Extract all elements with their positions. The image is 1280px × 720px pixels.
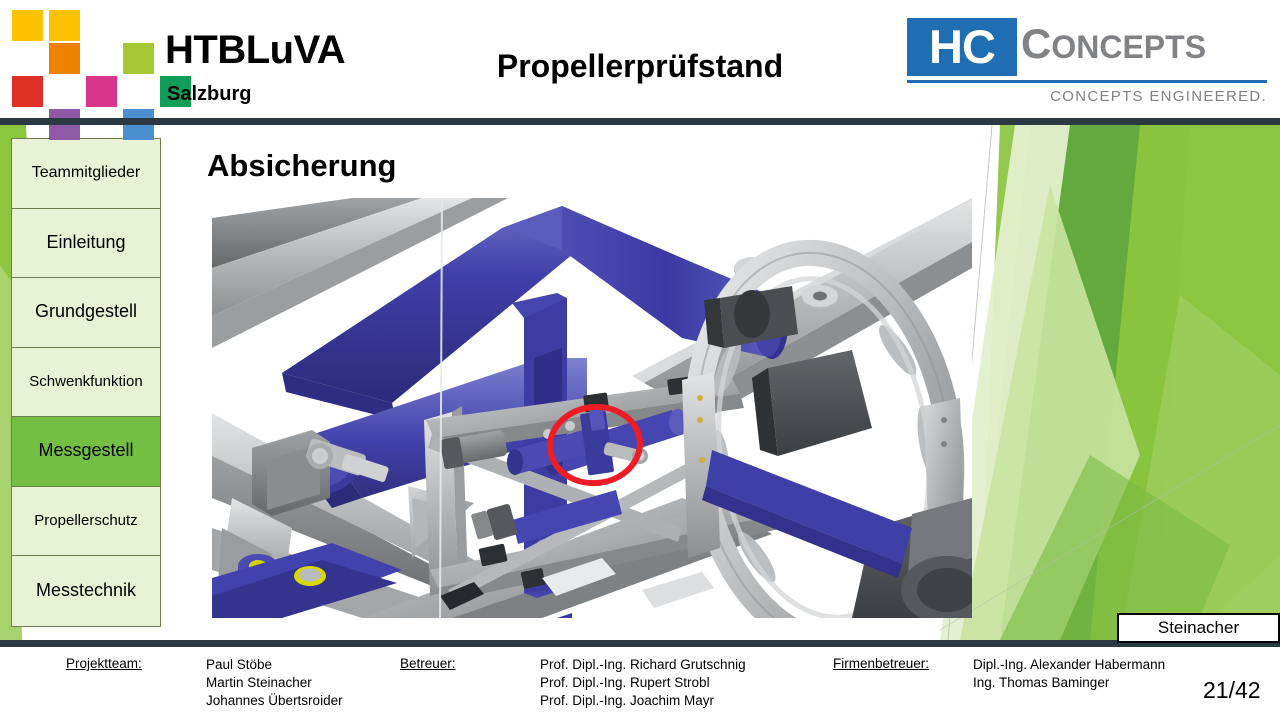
hc-logo-tagline: CONCEPTS ENGINEERED. <box>907 88 1267 105</box>
list-item: Prof. Dipl.-Ing. Rupert Strobl <box>540 674 746 692</box>
hc-wordmark-cap: C <box>1021 20 1051 67</box>
sidebar-item-propellerschutz[interactable]: Propellerschutz <box>12 487 160 557</box>
list-item: Paul Stöbe <box>206 656 343 674</box>
page-number: 21/42 <box>1203 677 1261 704</box>
sidebar-item-schwenkfunktion[interactable]: Schwenkfunktion <box>12 348 160 418</box>
hc-logo-mark: HC <box>907 18 1017 76</box>
sidebar-item-messtechnik[interactable]: Messtechnik <box>12 556 160 626</box>
speaker-name: Steinacher <box>1158 618 1239 638</box>
list-item: Ing. Thomas Baminger <box>973 674 1165 692</box>
slide-header: HTBLuVA Salzburg Propellerprüfstand HC C… <box>0 0 1280 118</box>
list-item: Prof. Dipl.-Ing. Richard Grutschnig <box>540 656 746 674</box>
sidebar-item-teammitglieder[interactable]: Teammitglieder <box>12 139 160 209</box>
sidebar-item-label: Propellerschutz <box>34 513 137 530</box>
slide-footer: Projektteam: Paul Stöbe Martin Steinache… <box>0 647 1280 720</box>
presentation-slide: HTBLuVA Salzburg Propellerprüfstand HC C… <box>0 0 1280 720</box>
sidebar-item-label: Teammitglieder <box>32 164 140 182</box>
sidebar-item-label: Grundgestell <box>35 302 137 322</box>
sidebar-item-einleitung[interactable]: Einleitung <box>12 209 160 279</box>
right-green-decor <box>940 125 1280 640</box>
cad-render-messgestell <box>212 198 972 618</box>
sidebar-item-messgestell[interactable]: Messgestell <box>12 417 160 487</box>
sidebar-item-label: Messtechnik <box>36 581 136 601</box>
firmenbetreuer-label: Firmenbetreuer: <box>833 656 929 671</box>
footer-divider <box>0 640 1280 647</box>
projektteam-list: Paul Stöbe Martin Steinacher Johannes Üb… <box>206 656 343 710</box>
hc-logo-wordmark: CONCEPTS <box>1021 23 1206 65</box>
list-item: Dipl.-Ing. Alexander Habermann <box>973 656 1165 674</box>
school-city: Salzburg <box>167 84 251 104</box>
firmenbetreuer-list: Dipl.-Ing. Alexander Habermann Ing. Thom… <box>973 656 1165 692</box>
hc-wordmark-rest: ONCEPTS <box>1051 29 1206 65</box>
speaker-name-box: Steinacher <box>1117 613 1280 643</box>
sidebar-nav: Teammitglieder Einleitung Grundgestell S… <box>11 138 161 627</box>
sidebar-item-label: Einleitung <box>46 233 125 253</box>
sidebar-item-label: Schwenkfunktion <box>29 374 142 391</box>
hc-concepts-logo: HC CONCEPTS CONCEPTS ENGINEERED. <box>895 16 1280 108</box>
list-item: Martin Steinacher <box>206 674 343 692</box>
sidebar-item-label: Messgestell <box>38 441 133 461</box>
header-divider <box>0 118 1280 125</box>
projektteam-label: Projektteam: <box>66 656 142 671</box>
list-item: Prof. Dipl.-Ing. Joachim Mayr <box>540 692 746 710</box>
content-heading: Absicherung <box>207 148 396 184</box>
sidebar-item-grundgestell[interactable]: Grundgestell <box>12 278 160 348</box>
list-item: Johannes Übertsroider <box>206 692 343 710</box>
hc-logo-underline <box>907 80 1267 83</box>
betreuer-list: Prof. Dipl.-Ing. Richard Grutschnig Prof… <box>540 656 746 710</box>
betreuer-label: Betreuer: <box>400 656 456 671</box>
